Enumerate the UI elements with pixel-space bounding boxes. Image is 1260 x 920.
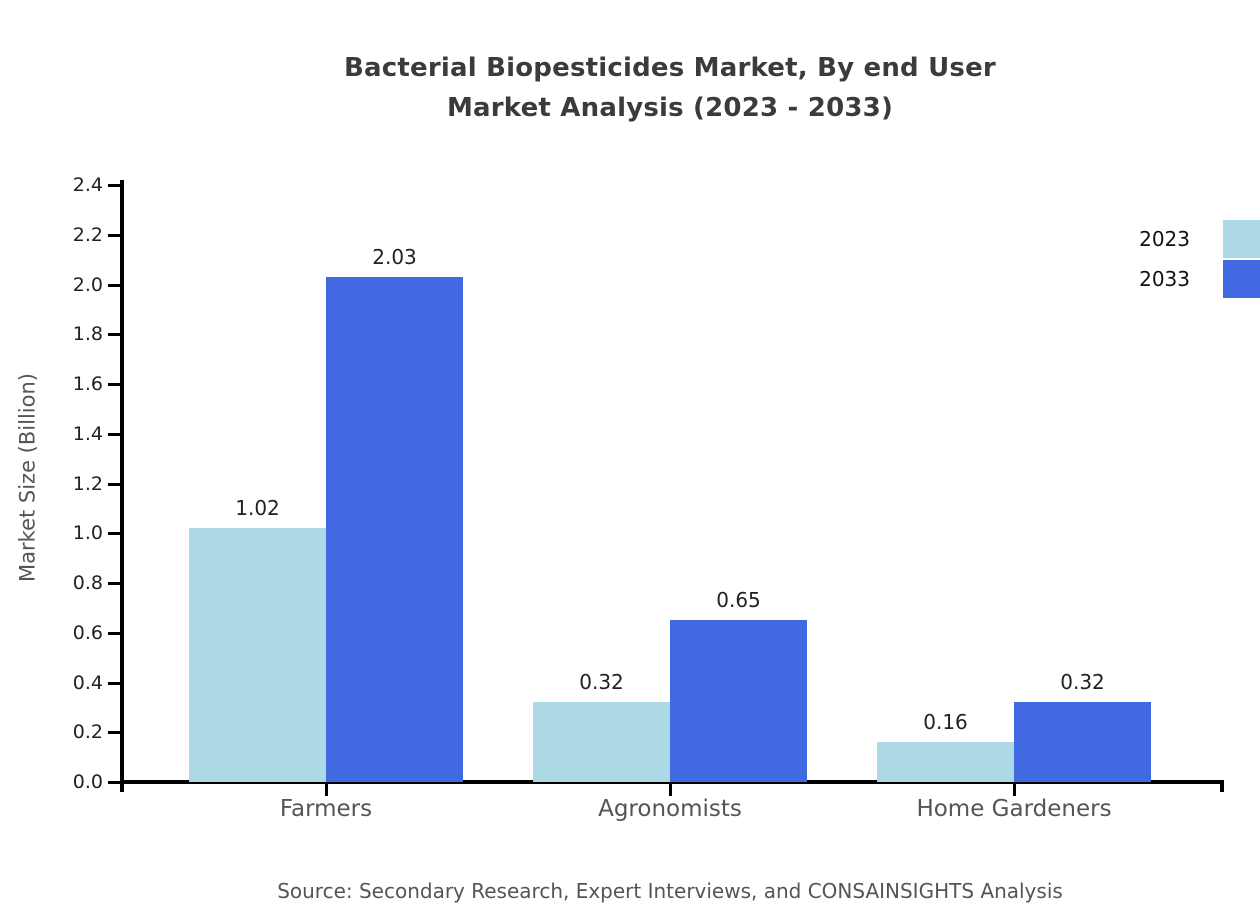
y-axis-tick-mark (108, 682, 122, 685)
y-axis-tick-label: 0.8 (23, 574, 103, 593)
bar-farmers-2023[interactable] (189, 528, 326, 782)
y-axis-tick-mark (108, 333, 122, 336)
y-axis-tick-mark (108, 184, 122, 187)
y-axis-spine (120, 180, 124, 792)
y-axis-tick-label: 0.4 (23, 674, 103, 693)
legend-swatch-2033[interactable] (1223, 260, 1260, 298)
x-axis-category-label-farmers: Farmers (176, 793, 476, 825)
y-axis-tick-mark (108, 433, 122, 436)
bar-value-label: 0.32 (983, 672, 1183, 692)
bar-farmers-2033[interactable] (326, 277, 463, 782)
y-axis-tick-mark (108, 632, 122, 635)
y-axis-tick-mark (108, 781, 122, 784)
legend-label-2023: 2023 (1070, 229, 1190, 249)
y-axis-tick-label: 1.6 (23, 375, 103, 394)
y-axis-tick-label: 1.4 (23, 425, 103, 444)
y-axis-tick-mark (108, 234, 122, 237)
bar-value-label: 0.65 (639, 590, 839, 610)
y-axis-tick-label: 1.8 (23, 325, 103, 344)
y-axis-tick-label: 2.0 (23, 276, 103, 295)
y-axis-tick-label: 1.2 (23, 475, 103, 494)
bar-home-gardeners-2033[interactable] (1014, 702, 1151, 782)
y-axis-tick-label: 2.2 (23, 226, 103, 245)
legend-label-2033: 2033 (1070, 269, 1190, 289)
chart-title: Bacterial Biopesticides Market, By end U… (0, 48, 1260, 128)
y-axis-tick-label: 0.2 (23, 723, 103, 742)
y-axis-tick-mark (108, 284, 122, 287)
chart-title-line-1: Bacterial Biopesticides Market, By end U… (0, 48, 1260, 88)
y-axis-tick-label: 2.4 (23, 176, 103, 195)
x-axis-end-tick (1220, 780, 1224, 792)
bar-home-gardeners-2023[interactable] (877, 742, 1014, 782)
source-note: Source: Secondary Research, Expert Inter… (0, 878, 1260, 904)
chart-figure: Bacterial Biopesticides Market, By end U… (0, 0, 1260, 920)
y-axis-tick-mark (108, 731, 122, 734)
bar-agronomists-2023[interactable] (533, 702, 670, 782)
bar-agronomists-2033[interactable] (670, 620, 807, 782)
y-axis-tick-mark (108, 582, 122, 585)
y-axis-tick-mark (108, 532, 122, 535)
y-axis-tick-label: 0.6 (23, 624, 103, 643)
x-axis-category-label-home-gardeners: Home Gardeners (864, 793, 1164, 825)
y-axis-tick-label: 1.0 (23, 524, 103, 543)
y-axis-tick-mark (108, 483, 122, 486)
chart-title-line-2: Market Analysis (2023 - 2033) (0, 88, 1260, 128)
legend-swatch-2023[interactable] (1223, 220, 1260, 258)
bar-value-label: 2.03 (295, 247, 495, 267)
x-axis-category-label-agronomists: Agronomists (520, 793, 820, 825)
y-axis-tick-mark (108, 383, 122, 386)
y-axis-tick-label: 0.0 (23, 773, 103, 792)
